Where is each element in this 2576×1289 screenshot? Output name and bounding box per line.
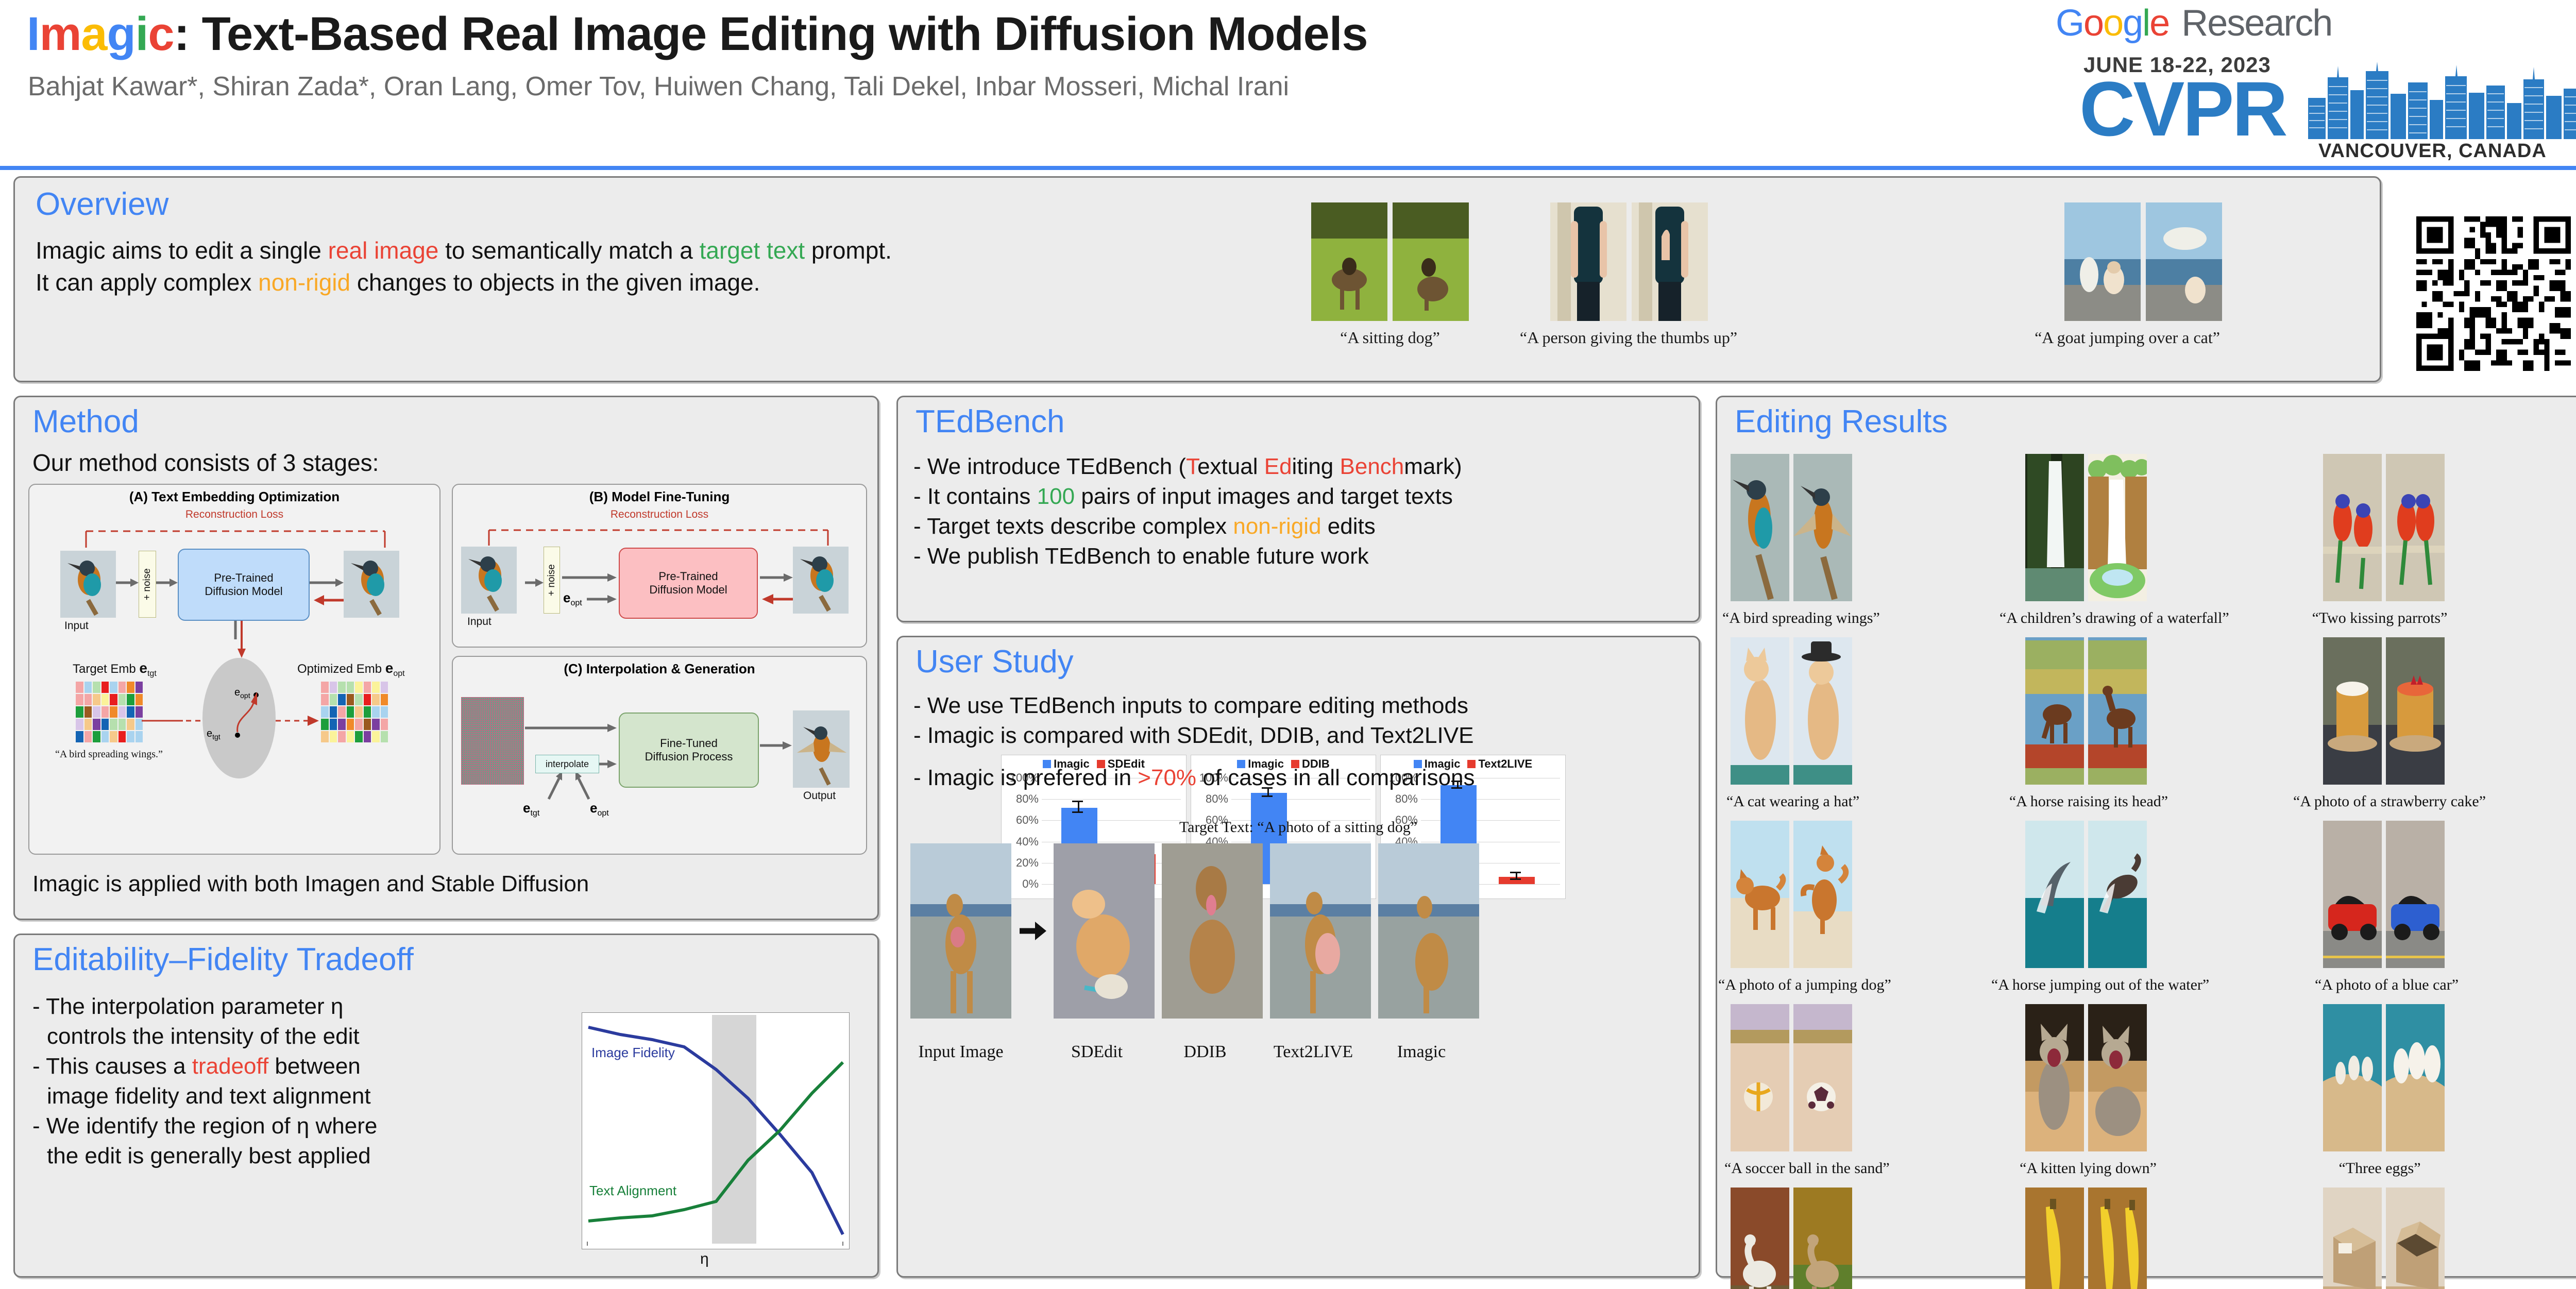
stage-a-opt-emb-label: Optimized Emb eopt <box>297 660 405 679</box>
stage-c-output-label: Output <box>803 790 836 802</box>
stage-a-model-label: Pre-TrainedDiffusion Model <box>205 571 282 598</box>
result-caption-5: “A horse raising its head” <box>2007 793 2171 810</box>
tbb3b: edits <box>1321 514 1376 539</box>
tradeoff-panel: Editability–Fidelity Tradeoff - The inte… <box>13 934 879 1278</box>
result-pair-cat <box>1731 637 1852 785</box>
userstudy-bullet-1: - We use TEdBench inputs to compare edit… <box>913 691 1473 721</box>
result-pair-box <box>2323 1188 2445 1289</box>
userstudy-pref-pct: >70% <box>1138 765 1196 790</box>
tedbench-nonrigid: non-rigid <box>1233 514 1321 539</box>
research-word: Research <box>2181 3 2332 44</box>
userstudy-target-text: Target Text: “A photo of a sitting dog” <box>898 819 1699 836</box>
image-white-horse <box>1731 1188 1789 1289</box>
image-bird-edited <box>1793 454 1852 601</box>
tb1a: - The interpolation parameter η <box>32 994 343 1019</box>
target-emb-text: Target Emb <box>73 662 136 676</box>
tb2b: between <box>268 1054 361 1079</box>
stage-a-emb-arrows <box>142 711 337 728</box>
tb2c: image fidelity and text alignment <box>32 1083 371 1109</box>
overview-l1-highlight-real-image: real image <box>328 237 439 264</box>
stage-a-input-image <box>60 551 116 618</box>
tedbench-bullets: - We introduce TEdBench (Textual Editing… <box>913 452 1462 571</box>
overview-caption-2: “A person giving the thumbs up” <box>1515 328 1742 347</box>
stage-b-model-box: Pre-TrainedDiffusion Model <box>619 548 758 619</box>
google-research-logo: GoogleResearch <box>2056 2 2332 44</box>
title-letter-a: a <box>81 8 107 60</box>
google-letter-o2: o <box>2103 3 2123 44</box>
tedbench-bullet-4: - We publish TEdBench to enable future w… <box>913 541 1462 571</box>
stage-b-output-image <box>793 547 849 614</box>
result-caption-9: “A photo of a blue car” <box>2315 976 2447 994</box>
result-caption-8: “A horse jumping out of the water” <box>1991 976 2187 994</box>
image-cat-hat <box>1793 637 1852 785</box>
image-dog-before <box>1311 202 1387 321</box>
result-pair-horse-head <box>2025 637 2147 785</box>
result-pair-eggs <box>2323 1004 2445 1151</box>
userstudy-label-ddib: DDIB <box>1155 1042 1256 1062</box>
image-person-before <box>1550 202 1626 321</box>
stage-c-e-tgt: etgt <box>523 800 539 818</box>
method-panel: Method Our method consists of 3 stages: … <box>13 396 879 920</box>
image-horse-grazing <box>2025 637 2084 785</box>
arrow-right-icon <box>1019 915 1046 946</box>
image-three-eggs <box>2386 1004 2445 1151</box>
result-caption-4: “A cat wearing a hat” <box>1726 793 1855 810</box>
image-kitten-yawning <box>2025 1004 2084 1151</box>
stage-b-model-label: Pre-TrainedDiffusion Model <box>649 570 727 597</box>
result-pair-waterfall <box>2025 454 2147 601</box>
overview-l1-c: prompt. <box>805 237 892 264</box>
opt-emb-symbol: e <box>385 660 394 676</box>
title-subtitle: : Text-Based Real Image Editing with Dif… <box>174 8 1367 60</box>
image-volleyball-sand <box>1731 1004 1789 1151</box>
tb3a: - We identify the region of η where <box>32 1113 377 1139</box>
cvpr-name: CVPR <box>2079 70 2286 147</box>
userstudy-label-sdedit: SDEdit <box>1046 1042 1147 1062</box>
tedbench-count: 100 <box>1037 484 1075 509</box>
result-pair-parrots <box>2323 454 2445 601</box>
tb1b: controls the intensity of the edit <box>32 1024 360 1049</box>
tedbench-bullet-2: - It contains 100 pairs of input images … <box>913 482 1462 512</box>
c3t4: 80% <box>1395 792 1418 806</box>
tbb2a: - It contains <box>913 484 1037 509</box>
image-goat-before <box>2064 202 2141 321</box>
tbb1r1: T <box>1186 454 1197 479</box>
stage-b-input-image <box>461 547 517 614</box>
c1t4: 80% <box>1016 792 1039 806</box>
result-pair-car <box>2323 821 2445 968</box>
stage-c-noise-image <box>461 697 524 785</box>
overview-line-2: It can apply complex non-rigid changes t… <box>36 266 760 298</box>
image-text2live-result <box>1270 843 1371 1019</box>
tbb1a: - We introduce TEdBench ( <box>913 454 1186 479</box>
result-pair-jumping-water <box>2025 821 2147 968</box>
userstudy-bullets: - We use TEdBench inputs to compare edit… <box>913 691 1473 751</box>
stage-a-model-box: Pre-TrainedDiffusion Model <box>178 549 310 621</box>
image-parrots-input <box>2323 454 2382 601</box>
us-note-a: - Imagic is prefered in <box>913 765 1138 790</box>
method-stage-a: (A) Text Embedding Optimization Reconstr… <box>28 484 440 855</box>
overview-l1-b: to semantically match a <box>438 237 699 264</box>
tradeoff-xlabel: η <box>700 1250 709 1268</box>
result-caption-7: “A photo of a jumping dog” <box>1718 976 1866 994</box>
tbb2b: pairs of input images and target texts <box>1075 484 1453 509</box>
image-red-car <box>2323 821 2382 968</box>
tedbench-panel: TEdBench - We introduce TEdBench (Textua… <box>896 396 1700 622</box>
google-letter-e: e <box>2149 3 2169 44</box>
overview-image-pair-goat <box>2064 202 2222 321</box>
image-input-dog <box>910 843 1011 1019</box>
image-soccerball-sand <box>1793 1004 1852 1151</box>
image-person-after <box>1632 202 1708 321</box>
image-goat-after <box>2146 202 2222 321</box>
tradeoff-bullet-2: - This causes a tradeoff between image f… <box>32 1051 537 1111</box>
tb2a: - This causes a <box>32 1054 192 1079</box>
overview-image-pair-person <box>1550 202 1708 321</box>
google-letter-G: G <box>2056 3 2083 44</box>
editing-results-heading: Editing Results <box>1735 403 1948 440</box>
overview-l2-highlight-non-rigid: non-rigid <box>258 269 350 296</box>
page-title: Imagic: Text-Based Real Image Editing wi… <box>27 7 1368 61</box>
tbb3a: - Target texts describe complex <box>913 514 1233 539</box>
result-caption-1: “A bird spreading wings” <box>1722 609 1861 627</box>
userstudy-comparison-row <box>910 843 1479 1019</box>
stage-a-target-emb-grid <box>76 682 143 742</box>
tradeoff-heading: Editability–Fidelity Tradeoff <box>32 941 414 978</box>
stage-a-point-opt: eopt <box>234 687 250 700</box>
image-cake-strawberry <box>2386 637 2445 785</box>
title-letter-g: g <box>107 8 135 60</box>
opt-emb-text: Optimized Emb <box>297 662 382 676</box>
image-dolphin-jumping <box>2025 821 2084 968</box>
stage-c-model-label: Fine-TunedDiffusion Process <box>645 737 733 764</box>
userstudy-label-text2live: Text2LIVE <box>1263 1042 1364 1062</box>
result-pair-brown-horse <box>1731 1188 1852 1289</box>
image-bird-input <box>1731 454 1789 601</box>
c2t4: 80% <box>1206 792 1228 806</box>
image-open-box <box>2386 1188 2445 1289</box>
result-caption-2: “A children’s drawing of a waterfall” <box>1999 609 2185 627</box>
title-letter-i1: I <box>27 8 40 60</box>
stage-b-emb-symbol: eopt <box>563 590 582 608</box>
tbb1r3: Bench <box>1340 454 1404 479</box>
tradeoff-bullet-1: - The interpolation parameter η controls… <box>32 992 537 1051</box>
target-emb-symbol: e <box>139 660 147 676</box>
qr-code[interactable] <box>2416 216 2576 371</box>
image-closed-box <box>2323 1188 2382 1289</box>
userstudy-label-imagic: Imagic <box>1371 1042 1472 1062</box>
stage-c-interpolate-box: interpolate <box>535 755 599 773</box>
stage-a-noise-box: + noise <box>139 551 156 618</box>
overview-l2-b: changes to objects in the given image. <box>350 269 760 296</box>
userstudy-note: - Imagic is prefered in >70% of cases in… <box>913 765 1475 791</box>
chart3-legend-baseline: Text2LIVE <box>1467 757 1532 771</box>
result-caption-10: “A soccer ball in the sand” <box>1724 1160 1858 1177</box>
title-letter-c: c <box>148 8 174 60</box>
qr-code-icon <box>2416 216 2571 371</box>
userstudy-label-input: Input Image <box>910 1042 1011 1062</box>
editing-results-panel: Editing Results “A bird spreading wings”… <box>1716 396 2576 1278</box>
stage-c-model-box: Fine-TunedDiffusion Process <box>619 713 759 788</box>
tb3b: the edit is generally best applied <box>32 1143 371 1168</box>
google-letter-o1: o <box>2083 3 2103 44</box>
cvpr-logo: JUNE 18-22, 2023 CVPR VANCOUVER, CANADA <box>2076 47 2576 161</box>
tradeoff-chart: Image Fidelity Text Alignment <box>582 1012 850 1249</box>
tbb1d: mark) <box>1404 454 1462 479</box>
title-letter-m: m <box>40 8 81 60</box>
tradeoff-series-fidelity-label: Image Fidelity <box>591 1045 675 1061</box>
method-stage-c: (C) Interpolation & Generation interpola… <box>452 656 867 855</box>
vancouver-skyline-icon <box>2298 62 2576 139</box>
image-parrots-kissing <box>2386 454 2445 601</box>
target-emb-subscript: tgt <box>147 669 157 678</box>
image-horse-head-raised <box>2088 637 2147 785</box>
overview-line-1: Imagic aims to edit a single real image … <box>36 234 892 266</box>
userstudy-bullet-2: - Imagic is compared with SDEdit, DDIB, … <box>913 721 1473 751</box>
overview-l1-highlight-target-text: target text <box>700 237 805 264</box>
overview-caption-1: “A sitting dog” <box>1311 328 1469 347</box>
tbb1r2: Ed <box>1264 454 1292 479</box>
image-horse-jumping-water <box>2088 821 2147 968</box>
stage-a-opt-emb-grid <box>321 682 388 742</box>
method-subtitle: Our method consists of 3 stages: <box>32 449 379 477</box>
tedbench-bullet-1: - We introduce TEdBench (Textual Editing… <box>913 452 1462 482</box>
header-divider <box>0 166 2576 170</box>
result-caption-3: “Two kissing parrots” <box>2302 609 2457 627</box>
userstudy-heading: User Study <box>916 643 1074 680</box>
google-letter-l: l <box>2142 3 2149 44</box>
tradeoff-highlight: tradeoff <box>192 1054 268 1079</box>
tedbench-bullet-3: - Target texts describe complex non-rigi… <box>913 512 1462 541</box>
result-caption-12: “Three eggs” <box>2325 1160 2434 1177</box>
image-shiba-standing <box>1731 821 1789 968</box>
method-footer: Imagic is applied with both Imagen and S… <box>32 871 589 897</box>
stage-c-e-opt: eopt <box>590 800 609 818</box>
title-letter-i2: i <box>135 8 148 60</box>
poster-header: Imagic: Text-Based Real Image Editing wi… <box>0 0 2576 168</box>
result-pair-kitten <box>2025 1004 2147 1151</box>
result-pair-bird <box>1731 454 1852 601</box>
stage-a-prompt: “A bird spreading wings.” <box>55 749 163 760</box>
author-list: Bahjat Kawar*, Shiran Zada*, Oran Lang, … <box>28 71 1289 102</box>
overview-caption-3: “A goat jumping over a cat” <box>2029 328 2225 347</box>
image-kitten-lying <box>2088 1004 2147 1151</box>
tradeoff-series-alignment-label: Text Alignment <box>589 1183 676 1199</box>
stage-a-output-image <box>344 551 399 618</box>
google-letter-g: g <box>2123 3 2142 44</box>
opt-emb-subscript: opt <box>393 669 404 678</box>
tbb1b: extual <box>1197 454 1264 479</box>
overview-l1-a: Imagic aims to edit a single <box>36 237 328 264</box>
overview-image-pair-dog <box>1311 202 1469 321</box>
image-eggs-input <box>2323 1004 2382 1151</box>
stage-a-target-emb-label: Target Emb etgt <box>73 660 157 679</box>
image-dog-after <box>1393 202 1469 321</box>
stage-a-point-tgt: etgt <box>207 728 221 741</box>
image-waterfall-drawing <box>2088 454 2147 601</box>
userstudy-panel: User Study - We use TEdBench inputs to c… <box>896 636 1700 1278</box>
poster-root: Imagic: Text-Based Real Image Editing wi… <box>0 0 2576 1289</box>
stage-c-output-image <box>793 710 850 788</box>
cvpr-city: VANCOUVER, CANADA <box>2318 140 2547 162</box>
tradeoff-bullets: - The interpolation parameter η controls… <box>32 992 537 1171</box>
image-waterfall-input <box>2025 454 2084 601</box>
stage-b-input-label: Input <box>467 616 492 628</box>
result-pair-ball <box>1731 1004 1852 1151</box>
stage-b-noise-box: + noise <box>544 547 560 614</box>
us-note-b: of cases in all comparisons <box>1196 765 1475 790</box>
result-pair-bananas <box>2025 1188 2147 1289</box>
image-cat-input <box>1731 637 1789 785</box>
result-pair-jumping-dog <box>1731 821 1852 968</box>
image-two-bananas <box>2088 1188 2147 1289</box>
stage-a-input-label: Input <box>64 620 89 632</box>
image-brown-horse-grass <box>1793 1188 1852 1289</box>
image-ddib-result <box>1162 843 1263 1019</box>
result-caption-11: “A kitten lying down” <box>2011 1160 2165 1177</box>
image-sdedit-result <box>1054 843 1155 1019</box>
image-shiba-jumping <box>1793 821 1852 968</box>
overview-heading: Overview <box>36 186 168 223</box>
overview-l2-a: It can apply complex <box>36 269 258 296</box>
result-caption-6: “A photo of a strawberry cake” <box>2293 793 2466 810</box>
image-blue-car <box>2386 821 2445 968</box>
overview-panel: Overview Imagic aims to edit a single re… <box>13 176 2381 382</box>
tradeoff-bullet-3: - We identify the region of η where the … <box>32 1111 537 1171</box>
image-one-banana <box>2025 1188 2084 1289</box>
tbb1c: iting <box>1292 454 1340 479</box>
result-pair-cake <box>2323 637 2445 785</box>
method-heading: Method <box>32 403 139 440</box>
image-imagic-result <box>1378 843 1479 1019</box>
image-cake-input <box>2323 637 2382 785</box>
method-stage-b: (B) Model Fine-Tuning Reconstruction Los… <box>452 484 867 648</box>
tedbench-heading: TEdBench <box>916 403 1065 440</box>
